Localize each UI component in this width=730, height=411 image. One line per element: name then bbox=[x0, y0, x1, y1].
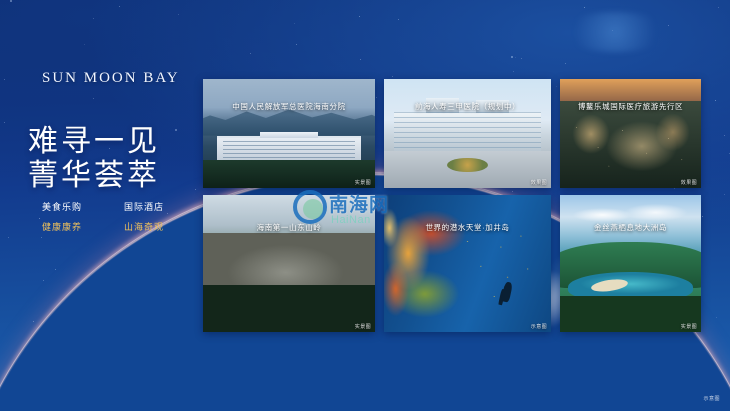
gallery-tile-5[interactable]: 金丝燕栖息地大洲岛 实景图 bbox=[560, 195, 701, 332]
photo-jiajing-island-diving bbox=[384, 195, 551, 332]
photo-dongshanling bbox=[203, 195, 375, 332]
page-title: 难寻一见 菁华荟萃 bbox=[28, 125, 160, 193]
feature-tag-0: 美食乐购 bbox=[42, 200, 108, 213]
gallery-tile-0[interactable]: 中国人民解放军总医院海南分院 实景图 bbox=[203, 79, 375, 188]
gallery-tile-caption-1: 前海人寿三甲医院（规划中） bbox=[384, 101, 551, 112]
feature-tag-2: 健康康养 bbox=[42, 220, 108, 233]
gallery-tile-caption-2: 博鳌乐城国际医疗旅游先行区 bbox=[560, 101, 701, 112]
photo-boao-lecheng bbox=[560, 79, 701, 188]
left-panel: SUN MOON BAY 难寻一见 菁华荟萃 美食乐购 国际酒店 健康康养 山海… bbox=[0, 0, 200, 411]
gallery-tile-corner-1: 效果图 bbox=[531, 179, 547, 186]
gallery-tile-caption-3: 海南第一山东山岭 bbox=[203, 222, 375, 233]
gallery-tile-3[interactable]: 海南第一山东山岭 实景图 bbox=[203, 195, 375, 332]
headline-line-2: 菁华荟萃 bbox=[28, 159, 160, 193]
headline-line-1: 难寻一见 bbox=[28, 125, 160, 159]
photo-gallery-grid: 中国人民解放军总医院海南分院 实景图 前海人寿三甲医院（规划中） 效果图 博鳌乐… bbox=[203, 79, 707, 332]
photo-dazhou-island bbox=[560, 195, 701, 332]
gallery-tile-corner-4: 示意图 bbox=[531, 323, 547, 330]
gallery-tile-caption-5: 金丝燕栖息地大洲岛 bbox=[560, 222, 701, 233]
photo-hospital-hainan bbox=[203, 79, 375, 188]
glow-wisp-1 bbox=[560, 12, 670, 52]
gallery-tile-caption-0: 中国人民解放军总医院海南分院 bbox=[203, 101, 375, 112]
gallery-tile-corner-3: 实景图 bbox=[355, 323, 371, 330]
gallery-tile-caption-4: 世界的潜水天堂·加井岛 bbox=[384, 222, 551, 233]
gallery-tile-corner-0: 实景图 bbox=[355, 179, 371, 186]
photo-qianhai-hospital bbox=[384, 79, 551, 188]
gallery-tile-2[interactable]: 博鳌乐城国际医疗旅游先行区 效果图 bbox=[560, 79, 701, 188]
gallery-tile-4[interactable]: 世界的潜水天堂·加井岛 示意图 bbox=[384, 195, 551, 332]
feature-tag-3: 山海奇观 bbox=[124, 220, 190, 233]
gallery-tile-1[interactable]: 前海人寿三甲医院（规划中） 效果图 bbox=[384, 79, 551, 188]
gallery-tile-corner-2: 效果图 bbox=[681, 179, 697, 186]
brand-logo: SUN MOON BAY bbox=[42, 70, 180, 87]
slide-background: SUN MOON BAY 难寻一见 菁华荟萃 美食乐购 国际酒店 健康康养 山海… bbox=[0, 0, 730, 411]
page-corner-note: 示意图 bbox=[703, 395, 720, 402]
feature-tag-list: 美食乐购 国际酒店 健康康养 山海奇观 bbox=[42, 200, 190, 233]
feature-tag-1: 国际酒店 bbox=[124, 200, 190, 213]
gallery-tile-corner-5: 实景图 bbox=[681, 323, 697, 330]
